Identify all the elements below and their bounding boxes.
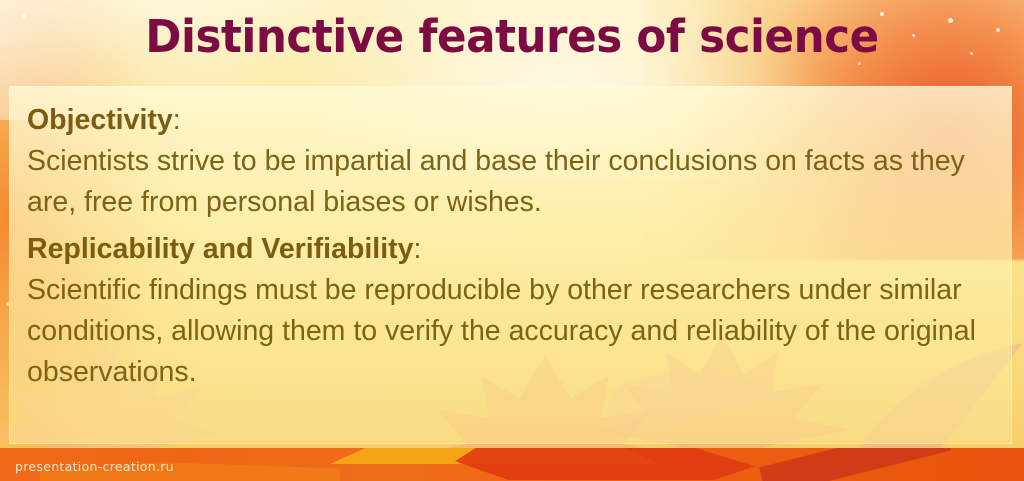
band-shape-red bbox=[455, 448, 755, 480]
heading-label: Replicability and Verifiability bbox=[27, 233, 413, 265]
content-text-body: Objectivity: Scientists strive to be imp… bbox=[27, 100, 1000, 393]
heading-colon: : bbox=[413, 233, 421, 265]
slide-canvas: Distinctive features of science Objectiv… bbox=[0, 0, 1024, 481]
heading-label: Objectivity bbox=[27, 104, 173, 136]
content-panel: Objectivity: Scientists strive to be imp… bbox=[9, 86, 1012, 444]
block-paragraph-replicability: Scientific findings must be reproducible… bbox=[27, 270, 1000, 393]
band-shape-darkred bbox=[759, 448, 951, 481]
watermark-label: presentation-creation.ru bbox=[15, 459, 174, 474]
block-paragraph-objectivity: Scientists strive to be impartial and ba… bbox=[27, 141, 1000, 223]
heading-colon: : bbox=[173, 104, 181, 136]
block-heading-replicability: Replicability and Verifiability: bbox=[27, 229, 1000, 270]
page-title: Distinctive features of science bbox=[15, 12, 1008, 62]
block-heading-objectivity: Objectivity: bbox=[27, 100, 1000, 141]
